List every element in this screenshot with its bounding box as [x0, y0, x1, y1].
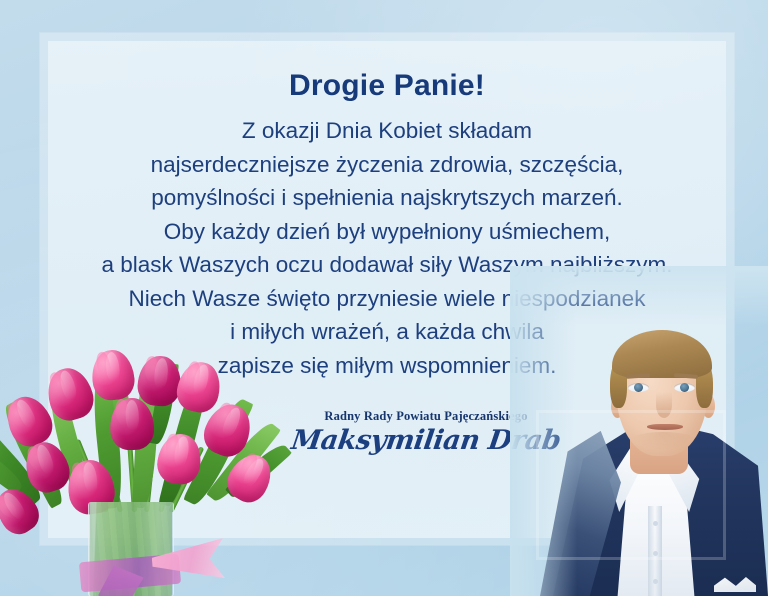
message-line: i miłych wrażeń, a każda chwila [48, 315, 726, 349]
signature-name: Maksymilian Drab [124, 425, 728, 456]
greeting-card-poster: Drogie Panie! Z okazji Dnia Kobiet skład… [0, 0, 768, 596]
card-content: Drogie Panie! Z okazji Dnia Kobiet skład… [48, 41, 726, 538]
message-line: Z okazji Dnia Kobiet składam [48, 114, 726, 148]
message-line: pomyślności i spełnienia najskrytszych m… [48, 181, 726, 215]
ribbon [79, 554, 181, 593]
message-line: Oby każdy dzień był wypełniony uśmiechem… [48, 215, 726, 249]
shirt-button [653, 579, 658, 584]
message-line: Niech Wasze święto przyniesie wiele nies… [48, 282, 726, 316]
signature-block: Radny Rady Powiatu Pajęczańskiego Maksym… [48, 409, 726, 456]
message-line: a blask Waszych oczu dodawał siły Waszym… [48, 248, 726, 282]
shirt-button [653, 551, 658, 556]
message-line: zapisze się miłym wspomnieniem. [48, 349, 726, 383]
message-body: Z okazji Dnia Kobiet składam najserdeczn… [48, 114, 726, 382]
signature-title: Radny Rady Powiatu Pajęczańskiego [126, 409, 726, 424]
pocket-square [714, 576, 756, 592]
ribbon-tail-left [87, 563, 145, 596]
page-title: Drogie Panie! [48, 69, 726, 103]
message-line: najserdeczniejsze życzenia zdrowia, szcz… [48, 148, 726, 182]
